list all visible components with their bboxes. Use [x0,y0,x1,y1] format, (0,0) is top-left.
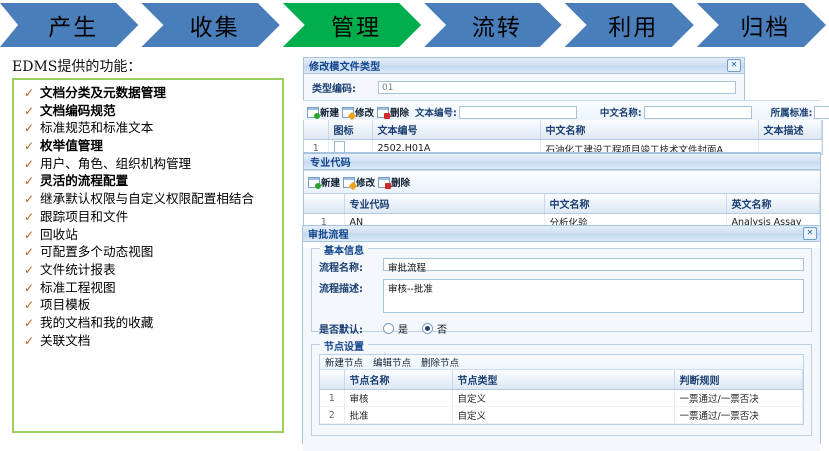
node-toolbar-button[interactable]: 删除节点 [416,355,464,369]
column-header: 专业代码 [344,194,544,214]
major-new-button[interactable]: 新建 [308,175,340,189]
feature-item-label: 我的文档和我的收藏 [40,316,278,331]
edit-button-label: 修改 [355,105,374,119]
type-code-label: 类型编码: [312,80,374,95]
dialog-workflow-titlebar[interactable]: 审批流程 ✕ [303,226,820,242]
group-basic-info-legend: 基本信息 [320,242,368,257]
close-icon[interactable]: ✕ [727,59,741,72]
check-icon: ✓ [18,334,40,349]
cn-name-field: 中文名称: [600,105,752,119]
feature-list-box: ✓文档分类及元数据管理✓文档编码规范✓标准规范和标准文本✓枚举值管理✓用户、角色… [12,78,284,433]
feature-item-label: 项目模板 [40,298,278,313]
check-icon: ✓ [18,121,40,136]
node-toolbar-button[interactable]: 新建节点 [320,355,368,369]
column-header: 判断规则 [674,370,803,390]
chevron-step-label: 利用 [608,8,658,42]
feature-item: ✓文档分类及元数据管理 [18,86,278,101]
feature-item: ✓标准工程视图 [18,281,278,296]
check-icon: ✓ [18,192,40,207]
radio-option[interactable]: 是 [383,321,408,336]
check-icon: ✓ [18,316,40,331]
group-basic-info: 基本信息 流程名称: 审批流程 流程描述: 审核--批准 是否默认: 是否 [311,248,812,332]
edit-icon [343,177,355,188]
feature-item: ✓用户、角色、组织机构管理 [18,157,278,172]
feature-item-label: 文件统计报表 [40,263,278,278]
dialog-workflow[interactable]: 审批流程 ✕ 基本信息 流程名称: 审批流程 流程描述: 审核--批准 是否默认… [302,225,821,444]
feature-item-label: 回收站 [40,228,278,243]
edit-icon [342,107,354,118]
check-icon: ✓ [18,104,40,119]
table-cell: 2 [320,407,344,424]
dialog-workflow-title: 审批流程 [308,226,349,241]
is-default-label: 是否默认: [319,320,383,336]
feature-item: ✓回收站 [18,228,278,243]
is-default-row: 是否默认: 是否 [319,320,804,336]
dialog-file-type-titlebar[interactable]: 修改模文件类型 ✕ [304,58,744,74]
flow-name-label: 流程名称: [319,258,383,274]
chevron-step-label: 流转 [472,8,522,42]
column-header: 节点名称 [344,370,452,390]
major-edit-label: 修改 [356,175,375,189]
chevron-step-label: 管理 [331,8,381,42]
cn-name-label: 中文名称: [600,105,642,119]
feature-item: ✓项目模板 [18,298,278,313]
feature-item-label: 文档分类及元数据管理 [40,86,278,101]
major-code-toolbar: 新建 修改 删除 [304,170,820,194]
feature-item-label: 继承默认权限与自定义权限配置相结合 [40,192,278,207]
feature-item: ✓可配置多个动态视图 [18,245,278,260]
check-icon: ✓ [18,139,40,154]
radio-dot-icon [383,323,394,334]
type-code-row: 类型编码: 01 [304,74,744,100]
chevron-step-3[interactable]: 管理 [283,3,421,47]
dialog-file-type-title: 修改模文件类型 [309,58,380,73]
feature-item: ✓文档编码规范 [18,104,278,119]
check-icon: ✓ [18,210,40,225]
feature-item-label: 枚举值管理 [40,139,278,154]
group-node-settings-legend: 节点设置 [320,338,368,353]
check-icon: ✓ [18,245,40,260]
table-cell: 1 [320,390,344,407]
flow-desc-row: 流程描述: 审核--批准 [319,279,804,313]
standard-input[interactable] [814,106,829,119]
standard-field: 所属标准: [771,105,829,119]
table-cell: 审核 [344,390,452,407]
column-header [304,194,344,214]
close-icon[interactable]: ✕ [803,227,817,240]
column-header [320,370,344,390]
feature-item-label: 文档编码规范 [40,104,278,119]
text-no-input[interactable] [459,106,577,119]
node-grid-header: 节点名称节点类型判断规则 [320,370,803,390]
dialog-file-type-body: 类型编码: 01 [304,74,744,100]
check-icon: ✓ [18,157,40,172]
major-delete-label: 删除 [391,175,410,189]
new-button[interactable]: 新建 [307,105,339,119]
process-chevron-banner: 产生收集管理流转利用归档 [0,3,829,47]
feature-item: ✓跟踪项目和文件 [18,210,278,225]
cn-name-input[interactable] [644,106,752,119]
left-panel-heading: EDMS提供的功能： [12,56,298,76]
major-edit-button[interactable]: 修改 [343,175,375,189]
major-code-header: 专业代码 [304,153,820,170]
flow-desc-input[interactable]: 审核--批准 [383,279,804,313]
feature-item-label: 用户、角色、组织机构管理 [40,157,278,172]
check-icon: ✓ [18,174,40,189]
feature-item: ✓继承默认权限与自定义权限配置相结合 [18,192,278,207]
new-icon [307,107,319,118]
file-type-toolbar-strip: 新建 修改 删除 文本编号: 中文名称: 所属标准: [303,100,821,120]
file-type-grid-wrap: 图标文本编号中文名称文本描述 12502.H01A石油化工建设工程项目竣工技术文… [303,120,823,155]
radio-option[interactable]: 否 [422,321,447,336]
feature-item: ✓我的文档和我的收藏 [18,316,278,331]
left-feature-column: EDMS提供的功能： ✓文档分类及元数据管理✓文档编码规范✓标准规范和标准文本✓… [0,52,298,442]
new-button-label: 新建 [320,105,339,119]
table-cell: 一票通过/一票否决 [674,407,803,424]
feature-item-label: 可配置多个动态视图 [40,245,278,260]
standard-label: 所属标准: [771,105,813,119]
feature-item-label: 标准工程视图 [40,281,278,296]
feature-item: ✓文件统计报表 [18,263,278,278]
check-icon: ✓ [18,228,40,243]
flow-desc-label: 流程描述: [319,279,383,295]
column-header [304,120,328,140]
flow-name-input[interactable]: 审批流程 [383,258,804,271]
text-no-label: 文本编号: [415,105,457,119]
radio-option-label: 是 [398,321,408,336]
group-node-settings: 节点设置 新建节点编辑节点删除节点 节点名称节点类型判断规则 1审核自定义一票通… [311,344,812,436]
major-code-title: 专业代码 [310,154,351,169]
column-header: 文本编号 [372,120,540,140]
feature-item-label: 跟踪项目和文件 [40,210,278,225]
node-grid[interactable]: 节点名称节点类型判断规则 1审核自定义一票通过/一票否决2批准自定义一票通过/一… [320,370,803,424]
delete-button[interactable]: 删除 [377,105,409,119]
feature-item-label: 标准规范和标准文本 [40,121,278,136]
column-header: 英文名称 [726,194,820,214]
feature-item-label: 关联文档 [40,334,278,349]
chevron-step-1[interactable]: 产生 [0,3,138,47]
column-header: 文本描述 [758,120,822,140]
check-icon: ✓ [18,263,40,278]
column-header: 图标 [328,120,372,140]
check-icon: ✓ [18,86,40,101]
chevron-step-4[interactable]: 流转 [424,3,561,47]
feature-item: ✓标准规范和标准文本 [18,121,278,136]
delete-icon [378,177,390,188]
column-header: 节点类型 [452,370,674,390]
flow-name-row: 流程名称: 审批流程 [319,258,804,274]
table-row[interactable]: 2批准自定义一票通过/一票否决 [320,407,803,424]
type-code-input[interactable]: 01 [378,81,736,94]
column-header: 中文名称 [544,194,726,214]
major-new-label: 新建 [321,175,340,189]
node-toolbar[interactable]: 新建节点编辑节点删除节点 [320,355,803,370]
file-type-grid-header: 图标文本编号中文名称文本描述 [304,120,822,140]
table-cell: 一票通过/一票否决 [674,390,803,407]
edit-button[interactable]: 修改 [342,105,374,119]
feature-item: ✓关联文档 [18,334,278,349]
file-type-grid[interactable]: 图标文本编号中文名称文本描述 12502.H01A石油化工建设工程项目竣工技术文… [304,120,822,155]
chevron-step-6[interactable]: 归档 [697,3,826,47]
node-toolbar-button[interactable]: 编辑节点 [368,355,416,369]
chevron-step-label: 产生 [48,8,98,42]
major-delete-button[interactable]: 删除 [378,175,410,189]
table-cell: 自定义 [452,390,674,407]
major-code-grid-header: 专业代码中文名称英文名称 [304,194,820,214]
chevron-step-label: 收集 [190,8,240,42]
new-icon [308,177,320,188]
text-no-field: 文本编号: [415,105,577,119]
feature-list: ✓文档分类及元数据管理✓文档编码规范✓标准规范和标准文本✓枚举值管理✓用户、角色… [18,86,278,348]
table-cell: 自定义 [452,407,674,424]
chevron-step-5[interactable]: 利用 [565,3,694,47]
chevron-step-2[interactable]: 收集 [141,3,279,47]
dialog-workflow-body: 基本信息 流程名称: 审批流程 流程描述: 审核--批准 是否默认: 是否 节点… [303,248,820,451]
feature-item: ✓枚举值管理 [18,139,278,154]
delete-icon [377,107,389,118]
delete-button-label: 删除 [390,105,409,119]
check-icon: ✓ [18,298,40,313]
panel-major-code: 专业代码 新建 修改 删除 专业代码中文名称英文名称 1AN分析化验Analys… [303,152,821,234]
feature-item: ✓灵活的流程配置 [18,174,278,189]
feature-item-label: 灵活的流程配置 [40,174,278,189]
table-cell: 批准 [344,407,452,424]
chevron-step-label: 归档 [740,8,790,42]
node-grid-wrap: 新建节点编辑节点删除节点 节点名称节点类型判断规则 1审核自定义一票通过/一票否… [319,354,804,425]
is-default-radio-group[interactable]: 是否 [383,320,447,336]
check-icon: ✓ [18,281,40,296]
column-header: 中文名称 [540,120,758,140]
radio-dot-icon [422,323,433,334]
radio-option-label: 否 [437,321,447,336]
table-row[interactable]: 1审核自定义一票通过/一票否决 [320,390,803,407]
